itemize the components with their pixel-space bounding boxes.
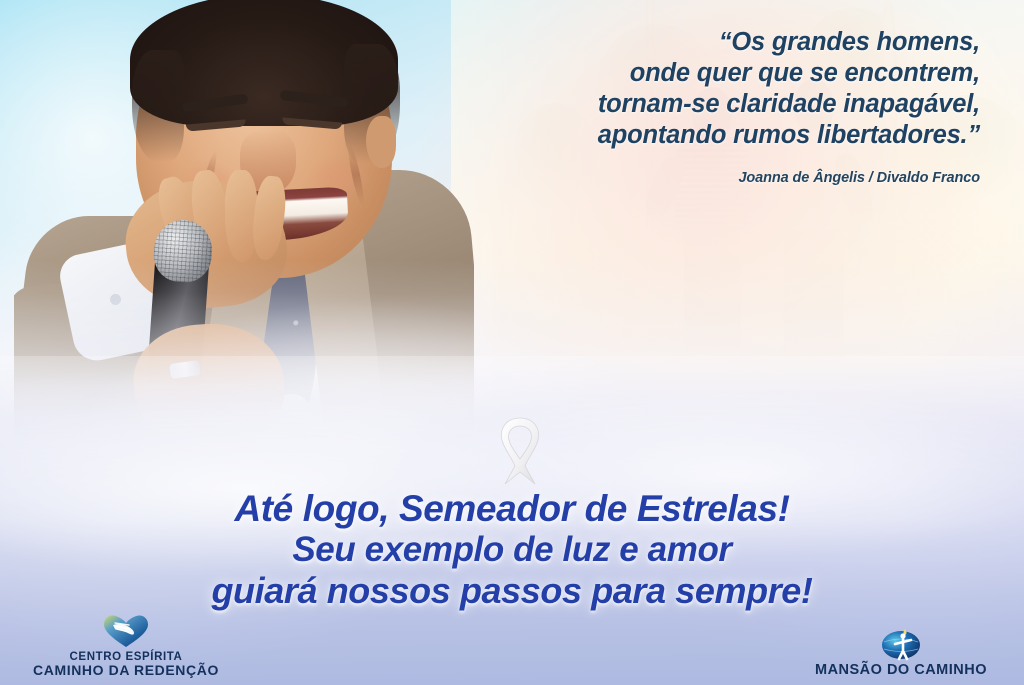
logo-right-text: MANSÃO DO CAMINHO	[815, 664, 987, 677]
globe-figure-torch-logo-icon	[880, 625, 922, 661]
quote-line-4: apontando rumos libertadores.”	[460, 120, 980, 151]
quote-text: “Os grandes homens, onde quer que se enc…	[460, 27, 980, 151]
quote-line-1: “Os grandes homens,	[460, 27, 980, 58]
heart-hands-logo-icon	[103, 614, 149, 648]
logo-centro-espirita: CENTRO ESPÍRITA CAMINHO DA REDENÇÃO	[22, 614, 230, 677]
logo-right-line-1: MANSÃO DO CAMINHO	[815, 664, 987, 677]
logo-left-line-2: CAMINHO DA REDENÇÃO	[33, 664, 219, 677]
quote-line-3: tornam-se claridade inapagável,	[460, 89, 980, 120]
headline-line-3: guiará nossos passos para sempre!	[0, 570, 1024, 611]
quote-attribution: Joanna de Ângelis / Divaldo Franco	[460, 170, 980, 186]
headline-line-2: Seu exemplo de luz e amor	[0, 529, 1024, 570]
quote-line-2: onde quer que se encontrem,	[460, 58, 980, 89]
logo-left-text: CENTRO ESPÍRITA CAMINHO DA REDENÇÃO	[33, 651, 219, 677]
white-mourning-ribbon-icon	[487, 414, 553, 486]
headline-line-1: Até logo, Semeador de Estrelas!	[0, 488, 1024, 529]
headline: Até logo, Semeador de Estrelas! Seu exem…	[0, 488, 1024, 611]
logo-mansao-do-caminho: MANSÃO DO CAMINHO	[796, 625, 1006, 677]
memorial-tribute-poster: “Os grandes homens, onde quer que se enc…	[0, 0, 1024, 685]
